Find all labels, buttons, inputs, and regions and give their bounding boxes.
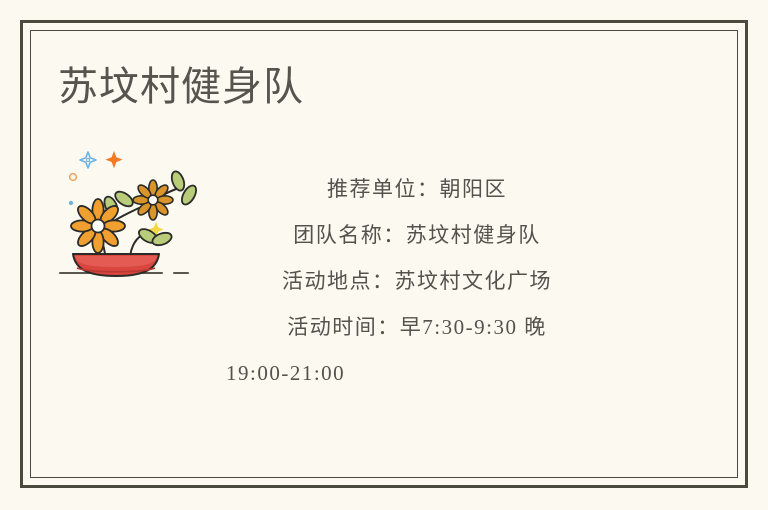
sparkle-star-blue-icon — [80, 152, 96, 168]
info-line-time-tail: 19:00-21:00 — [218, 350, 616, 396]
flower-large — [71, 199, 125, 253]
info-line-organizer: 推荐单位：朝阳区 — [218, 166, 616, 212]
flower-small — [133, 180, 173, 220]
potted-flowers-illustration — [56, 140, 216, 300]
sparkle-dot-blue-icon — [69, 201, 73, 205]
sparkle-star-orange-icon — [105, 151, 122, 168]
sparkle-circle-orange-icon — [70, 174, 77, 181]
info-line-time: 活动时间：早7:30-9:30 晚 19:00-21:00 — [218, 304, 616, 396]
info-card: 苏坟村健身队 — [0, 0, 768, 510]
info-text-block: 推荐单位：朝阳区 团队名称：苏坟村健身队 活动地点：苏坟村文化广场 活动时间：早… — [218, 166, 616, 396]
info-line-location: 活动地点：苏坟村文化广场 — [218, 258, 616, 304]
info-line-team-name: 团队名称：苏坟村健身队 — [218, 212, 616, 258]
info-line-time-head: 活动时间：早7:30-9:30 晚 — [218, 304, 616, 350]
page-title: 苏坟村健身队 — [58, 62, 304, 112]
